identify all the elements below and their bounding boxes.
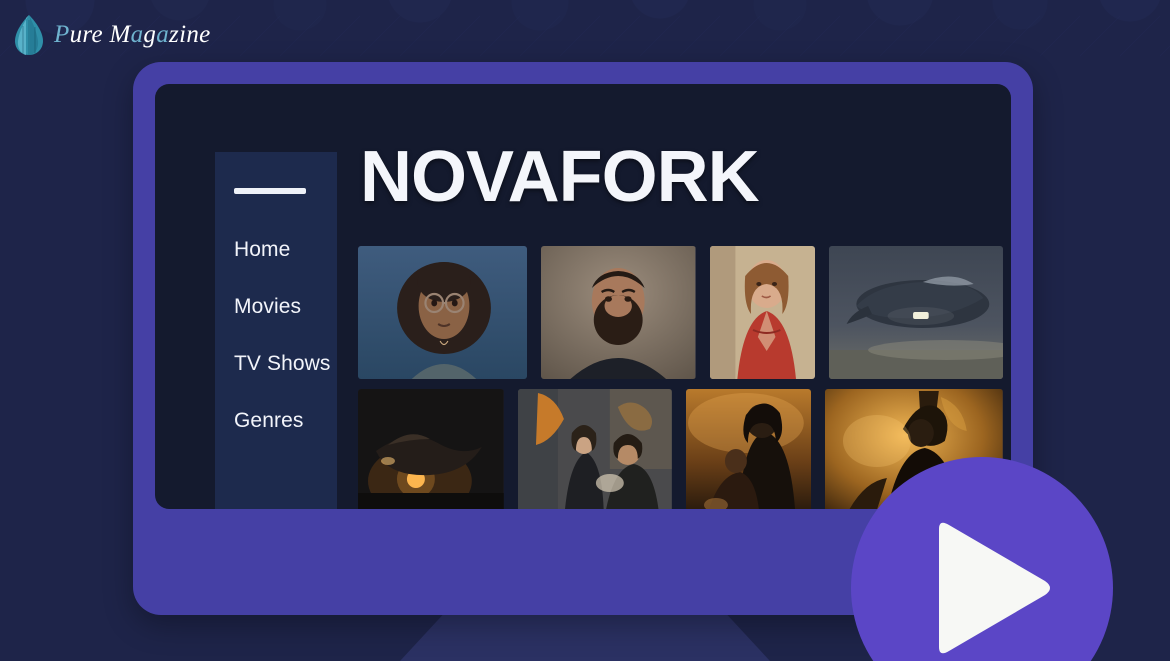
media-grid (358, 246, 1003, 509)
menu-bar-icon[interactable] (234, 188, 306, 194)
sidebar-item-movies[interactable]: Movies (234, 295, 331, 319)
monitor-stand (400, 613, 770, 661)
feather-logo-icon (14, 14, 44, 56)
media-grid-row (358, 246, 1003, 379)
brand-name: Pure Magazine (54, 21, 211, 49)
sidebar-nav-list: Home Movies TV Shows Genres (234, 238, 331, 433)
thumb-portrait-woman-glasses[interactable] (358, 246, 527, 379)
sidebar-item-home[interactable]: Home (234, 238, 331, 262)
thumb-scene-flying-whale[interactable] (829, 246, 1003, 379)
thumb-scene-dark-creature-firelight[interactable] (358, 389, 504, 509)
play-triangle-icon (925, 519, 1055, 657)
brand-logo[interactable]: Pure Magazine (14, 14, 211, 56)
app-title: NOVAFORK (360, 141, 759, 213)
thumb-scene-embrace-golden-haze[interactable] (686, 389, 812, 509)
promo-graphic: Pure Magazine Home Movies TV Shows Genre… (0, 0, 1170, 661)
novafork-app: Home Movies TV Shows Genres NOVAFORK (155, 84, 1011, 509)
app-sidebar: Home Movies TV Shows Genres (215, 152, 337, 509)
thumb-portrait-bearded-man[interactable] (541, 246, 695, 379)
thumb-portrait-woman-red-blouse[interactable] (710, 246, 816, 379)
monitor-screen: Home Movies TV Shows Genres NOVAFORK (155, 84, 1011, 509)
sidebar-item-genres[interactable]: Genres (234, 409, 331, 433)
thumb-scene-crowd-banner[interactable] (518, 389, 672, 509)
sidebar-item-tv-shows[interactable]: TV Shows (234, 352, 331, 376)
